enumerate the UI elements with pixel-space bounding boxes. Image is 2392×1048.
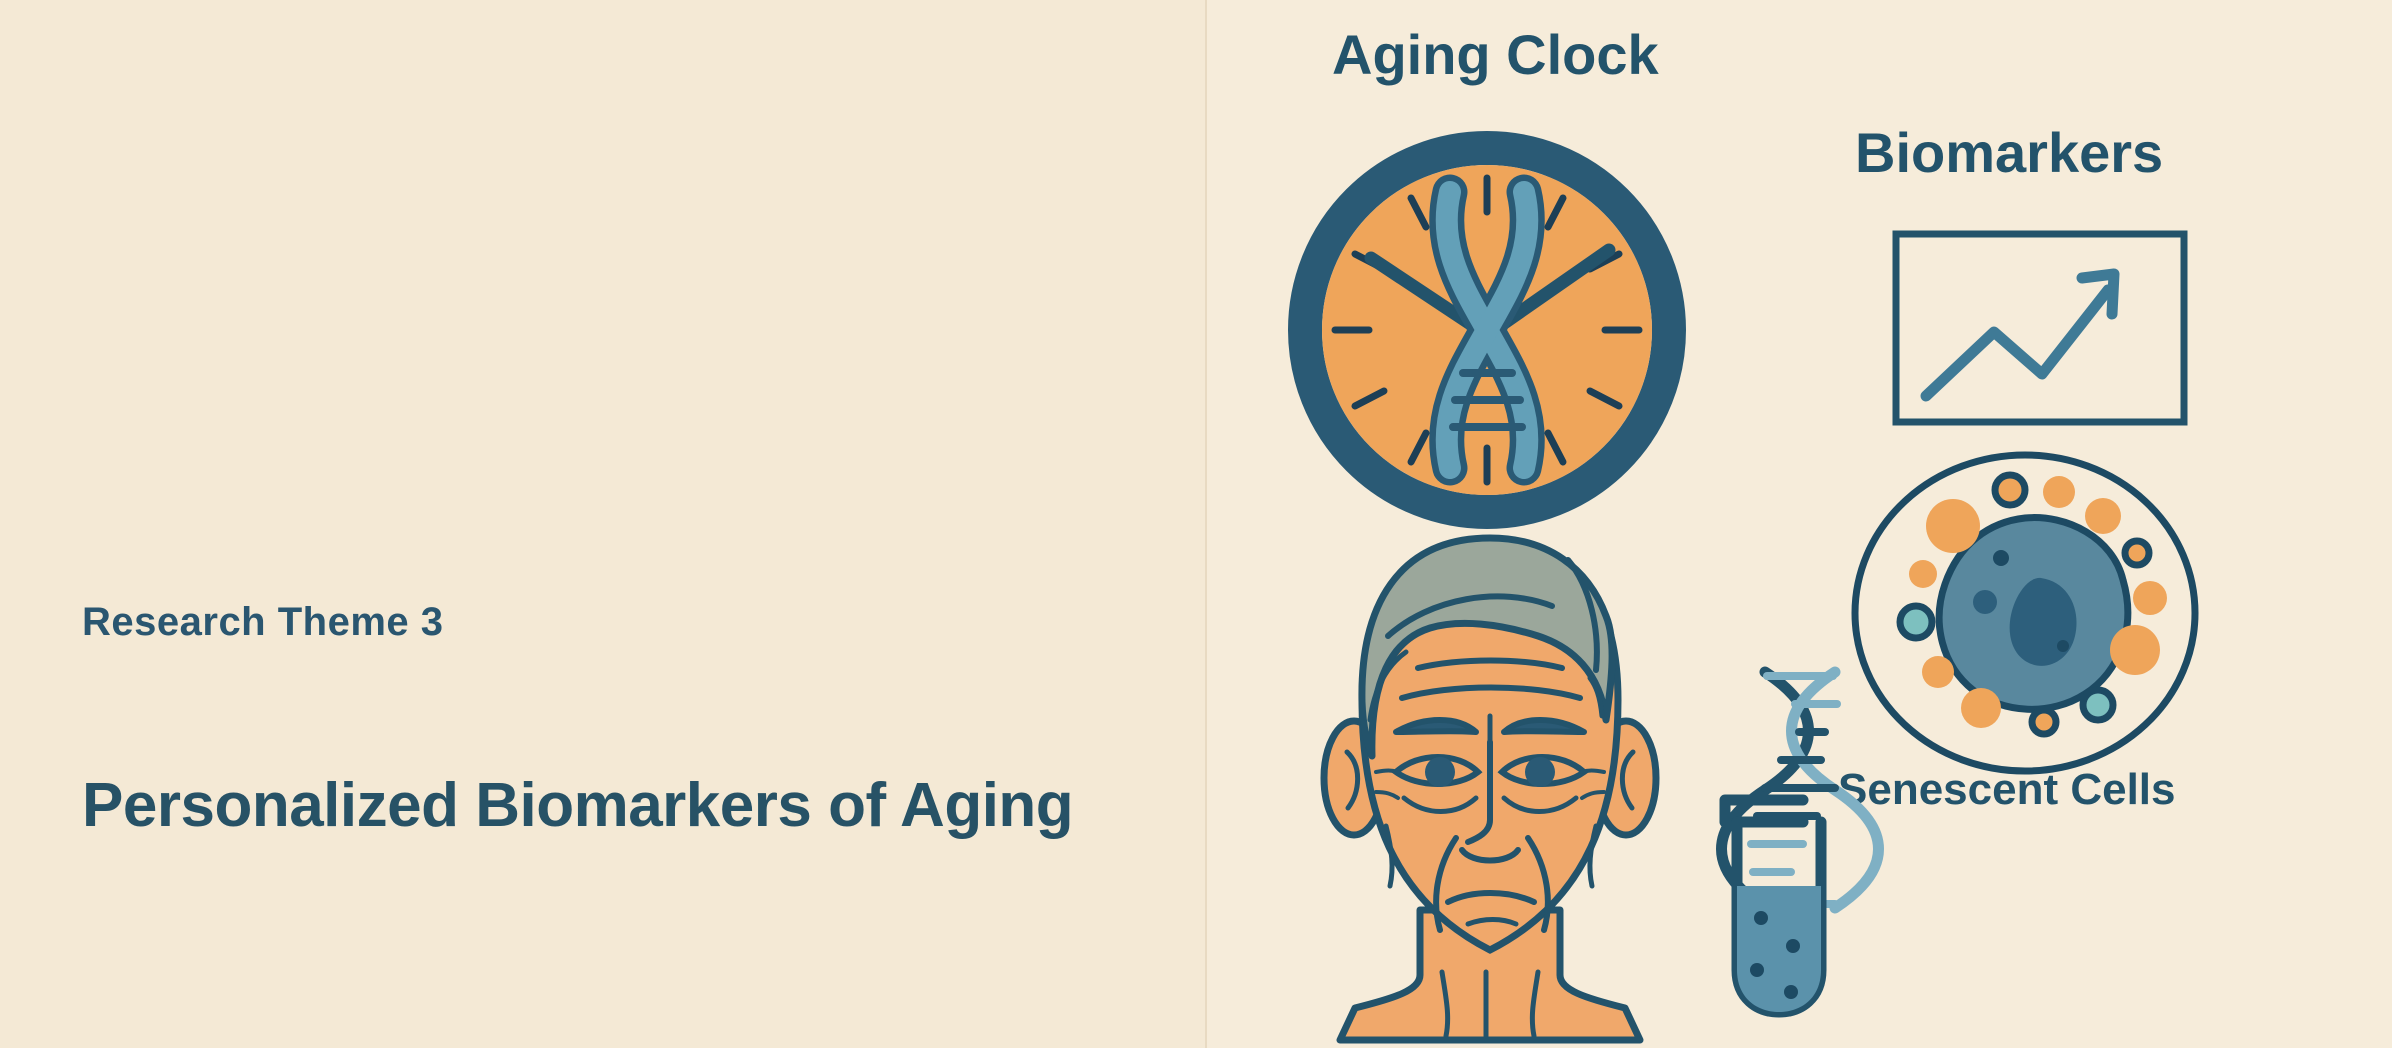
biomarkers-chart-icon <box>1890 228 2190 428</box>
research-theme-banner: Research Theme 3 Personalized Biomarkers… <box>0 0 2392 1048</box>
theme-eyebrow: Research Theme 3 <box>82 600 444 645</box>
theme-headline: Personalized Biomarkers of Aging <box>82 770 1073 841</box>
test-tube-dna-icon <box>1695 660 1895 1020</box>
senescent-cell-icon <box>1845 450 2205 780</box>
aging-clock-icon <box>1287 130 1687 530</box>
biomarkers-label: Biomarkers <box>1855 120 2163 185</box>
right-illustration-panel: Aging Clock Biomarkers Senescent Cells <box>1205 0 2392 1048</box>
left-text-panel: Research Theme 3 Personalized Biomarkers… <box>0 0 1205 1048</box>
elderly-face-icon <box>1300 520 1680 1040</box>
aging-clock-label: Aging Clock <box>1332 22 1659 87</box>
